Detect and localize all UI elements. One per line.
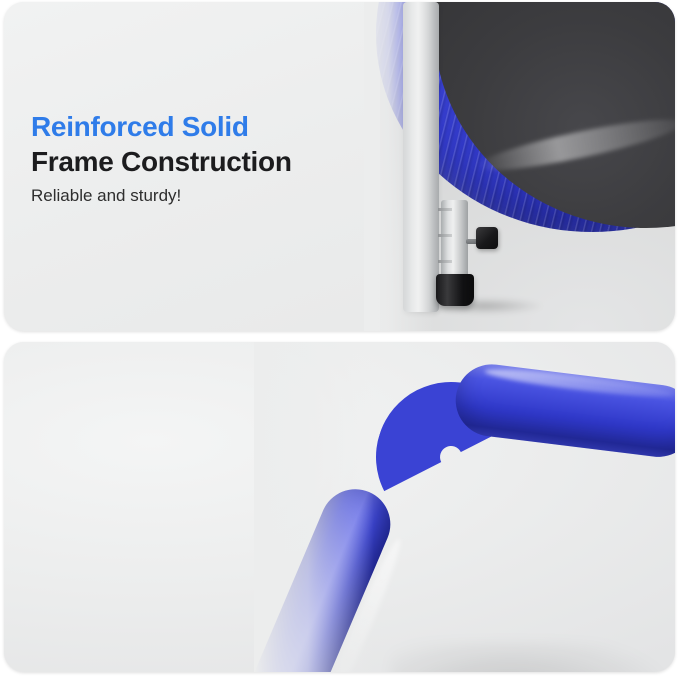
frame-construction-text-block: Reinforced Solid Frame Construction Reli…	[31, 110, 292, 208]
accent-headline: Reinforced Solid	[31, 110, 292, 144]
product-feature-collage: Reinforced Solid Frame Construction Reli…	[0, 0, 679, 677]
main-headline: Frame Construction	[31, 144, 292, 180]
leg-sleeve-joint	[438, 260, 452, 263]
black-adjustment-knob	[476, 227, 498, 249]
sub-headline: Reliable and sturdy!	[31, 184, 292, 208]
leg-sleeve-joint	[438, 208, 452, 211]
leg-sleeve-joint	[438, 234, 452, 237]
photo-left-fade	[254, 342, 374, 672]
handrail-drop-shadow	[390, 642, 675, 672]
feature-panel-padded-handrail: Integrated Padded Handrail Superior mane…	[4, 342, 675, 672]
photo-left-fade	[364, 2, 434, 331]
black-rubber-foot-cap	[436, 274, 474, 306]
feature-panel-frame-construction: Reinforced Solid Frame Construction Reli…	[4, 2, 675, 331]
